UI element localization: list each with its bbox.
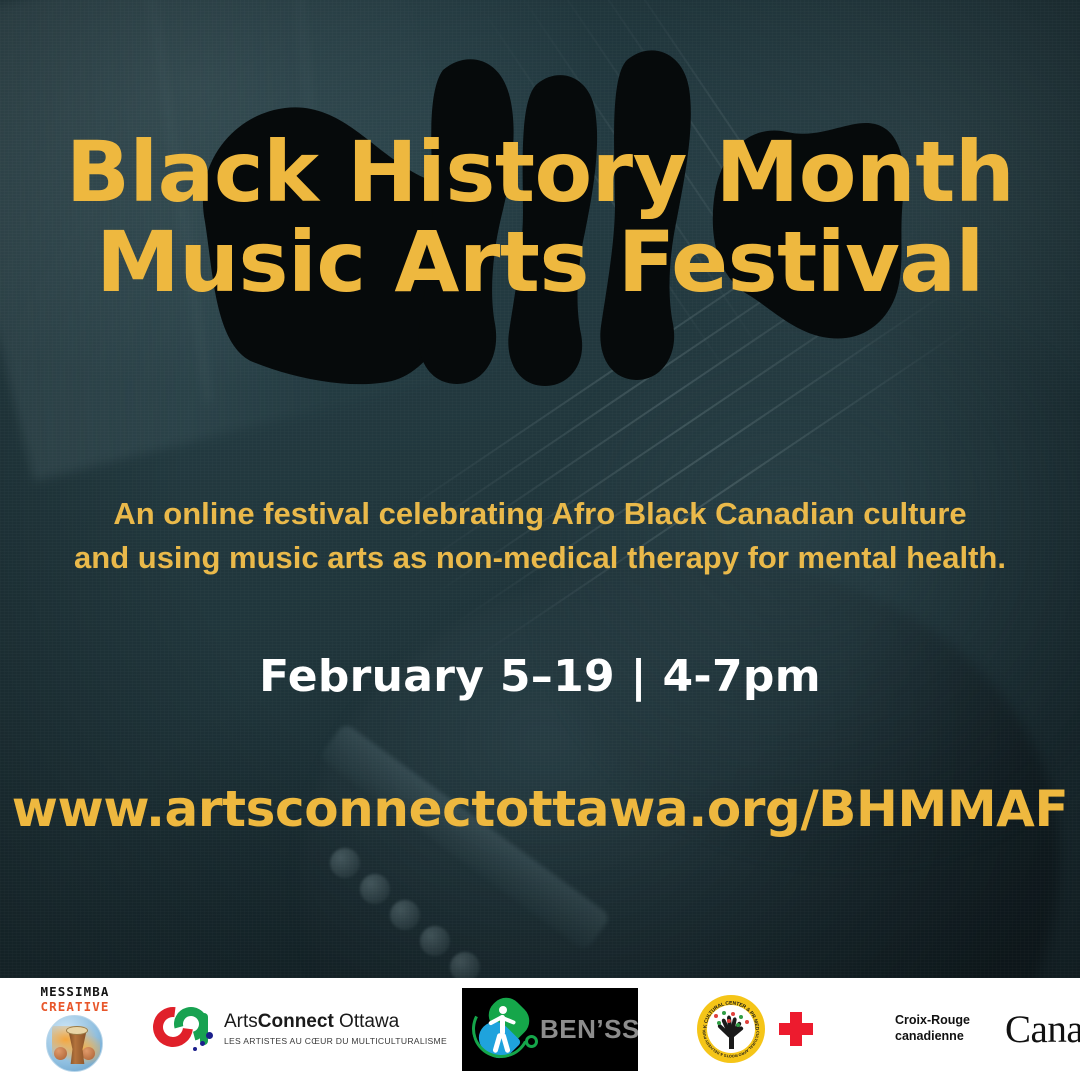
title-line-1: Black History Month xyxy=(66,123,1014,221)
page-title: Black History Month Music Arts Festival xyxy=(0,128,1080,308)
sponsor-logo-bar: MESSIMBA CREATIVE xyxy=(0,978,1080,1080)
red-cross-line-2: canadienne xyxy=(895,1029,970,1045)
red-cross-icon xyxy=(779,1012,813,1046)
sponsor-logo-artsconnect-ottawa[interactable]: ArtsConnect Ottawa LES ARTISTES AU CŒUR … xyxy=(150,978,450,1080)
poster-canvas: Black History Month Music Arts Festival … xyxy=(0,0,1080,1080)
sponsor-logo-messimba-creative[interactable]: MESSIMBA CREATIVE xyxy=(0,978,150,1080)
subtitle: An online festival celebrating Afro Blac… xyxy=(0,492,1080,580)
artsconnect-wordmark: ArtsConnect Ottawa xyxy=(224,1012,447,1033)
title-line-2: Music Arts Festival xyxy=(0,218,1080,308)
benss-stethoscope-person-icon xyxy=(470,996,536,1062)
messimba-wordmark-top: MESSIMBA xyxy=(40,986,109,999)
tree-badge-icon: AFRO BLACK CULTURAL CENTER & PR MEDIA AG… xyxy=(697,995,765,1063)
event-url[interactable]: www.artsconnectottawa.org/BHMMAF xyxy=(0,780,1080,838)
sponsor-logo-canadian-red-cross[interactable]: Croix-Rouge canadienne xyxy=(860,978,1005,1080)
djembe-drum-badge-icon xyxy=(46,1015,103,1072)
benss-wordmark: BEN’SS xyxy=(540,1016,638,1042)
messimba-wordmark-bottom: CREATIVE xyxy=(40,1001,109,1014)
artsconnect-ca-monogram-icon xyxy=(153,1005,215,1053)
artsconnect-tagline: LES ARTISTES AU CŒUR DU MULTICULTURALISM… xyxy=(224,1036,447,1046)
canada-wordmark: Canada xyxy=(1005,1008,1080,1051)
artsconnect-connect: Connect xyxy=(258,1011,334,1032)
red-cross-line-1: Croix-Rouge xyxy=(895,1013,970,1029)
event-dateline: February 5–19 | 4-7pm xyxy=(0,651,1080,702)
subtitle-line-1: An online festival celebrating Afro Blac… xyxy=(0,492,1080,536)
artsconnect-arts: Arts xyxy=(224,1011,258,1032)
sponsor-logo-government-of-canada[interactable]: Canada xyxy=(1005,978,1080,1080)
sponsor-logo-afro-black-cultural-centre[interactable]: AFRO BLACK CULTURAL CENTER & PR MEDIA AG… xyxy=(650,978,860,1080)
artsconnect-ottawa: Ottawa xyxy=(334,1011,399,1032)
subtitle-line-2: and using music arts as non-medical ther… xyxy=(0,536,1080,580)
sponsor-logo-benss[interactable]: BEN’SS xyxy=(450,978,650,1080)
